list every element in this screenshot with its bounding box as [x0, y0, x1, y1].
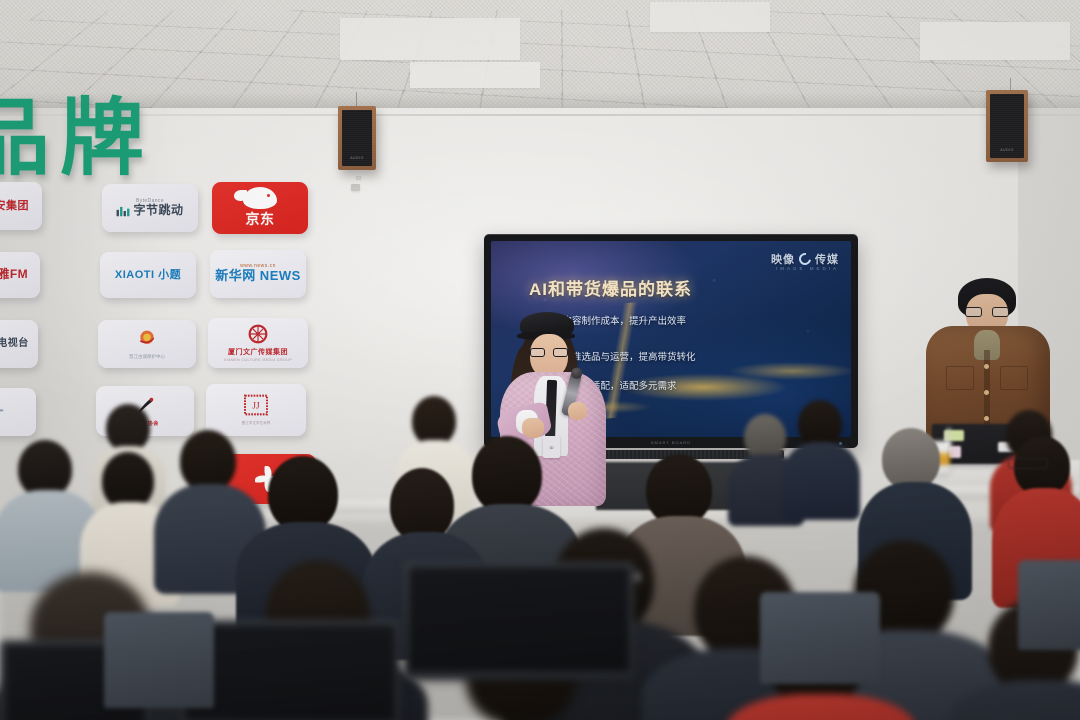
logo-card-bytedance: ByteDance 字节跳动	[102, 184, 198, 232]
slide-title: AI和带货爆品的联系	[529, 275, 692, 300]
ceiling	[0, 0, 1080, 118]
bytedance-icon	[116, 205, 130, 217]
wall-speaker-right: AUDIO	[986, 90, 1028, 162]
wall-brand-headline: 品牌	[0, 96, 154, 180]
logo-sublabel: XIAMEN CULTURE MEDIA GROUP	[224, 358, 292, 362]
monitor-screen	[185, 625, 395, 720]
logo-card-ximalaya-fm: 喜马拉雅FM	[0, 252, 40, 298]
logo-card-hengan-group: 恒安集团	[0, 182, 42, 230]
jj-seal-icon: JJ	[243, 394, 269, 416]
logo-card-blue-partner	[0, 388, 36, 436]
logo-label: 晋江古城保护中心	[129, 354, 165, 360]
presenter-hand-gesturing	[522, 418, 544, 438]
logo-card-quanzhou-broadcast-tv: 泉州广播电视台	[0, 320, 38, 368]
speaker-grille: AUDIO	[990, 94, 1024, 158]
logo-label: 泉州广播电视台	[0, 338, 29, 350]
desktop-monitor	[404, 562, 634, 680]
jacket-button	[984, 390, 989, 395]
partner-icon	[0, 404, 10, 420]
logo-sublabel: 晋江市文学艺术界	[242, 421, 271, 426]
attendee	[782, 400, 858, 518]
wall-outlet	[351, 184, 360, 191]
logo-label: 喜马拉雅FM	[0, 268, 28, 282]
logo-label: 恒安集团	[0, 200, 29, 213]
jacket-button	[984, 364, 989, 369]
logo-label: 新华网 NEWS	[215, 269, 301, 284]
logo-card-jinjiang-jj: JJ 晋江市文学艺术界	[206, 384, 306, 436]
classroom-chair	[1018, 560, 1080, 650]
xiamen-seal-icon	[248, 324, 268, 344]
jacket-button	[984, 416, 989, 421]
slide-brand-logo: 映像 传媒	[771, 251, 839, 267]
heritage-swirl-icon	[137, 329, 157, 349]
presenter-hand-holding-mic	[568, 402, 587, 420]
ceiling-panel	[410, 62, 540, 88]
logo-card-xiaoti: XIAOTI 小题	[100, 252, 196, 298]
logo-label: 厦门文广传媒集团	[224, 349, 292, 357]
logo-card-jd-com: 京东	[212, 182, 308, 234]
slide-brand-subtitle: IMAGE MEDIA	[776, 266, 839, 271]
wall-label: 82	[356, 176, 362, 182]
ceiling-panel	[340, 18, 520, 60]
display-brand-label: SMART BOARD	[651, 440, 691, 445]
classroom-chair	[760, 592, 880, 684]
attendee-glasses	[1008, 458, 1048, 469]
photo-scene: 82 AUDIO AUDIO 品牌 恒安集团 ByteDance	[0, 0, 1080, 720]
jd-dog-icon	[243, 187, 277, 209]
ceiling-panel	[920, 22, 1070, 60]
logo-card-xinhuanet: www.news.cn 新华网 NEWS	[210, 250, 306, 298]
presenter-glasses	[530, 348, 568, 357]
logo-label: 字节跳动	[133, 204, 183, 218]
wall-speaker-left: AUDIO	[338, 106, 376, 170]
monitor-screen	[409, 567, 629, 671]
speaker-grille: AUDIO	[342, 110, 372, 166]
slide-brand-right: 传媒	[815, 251, 839, 267]
logo-label: XIAOTI 小题	[115, 269, 181, 282]
logo-card-xiamen-culture-media-group: 厦门文广传媒集团 XIAMEN CULTURE MEDIA GROUP	[208, 318, 308, 368]
logo-card-jinjiang-heritage-center: 晋江古城保护中心	[98, 320, 196, 368]
jacket-pocket-left	[946, 366, 974, 390]
ceiling-panel	[650, 2, 770, 32]
logo-label: 京东	[246, 211, 275, 227]
man-glasses	[965, 307, 1009, 317]
speaker-brand-badge: AUDIO	[350, 156, 364, 160]
slide-logo-ring-icon	[797, 251, 814, 268]
slide-brand-left: 映像	[771, 251, 795, 267]
svg-text:JJ: JJ	[252, 401, 260, 411]
speaker-brand-badge: AUDIO	[1000, 148, 1014, 152]
classroom-chair	[104, 612, 214, 708]
jacket-pocket-right	[1000, 366, 1028, 390]
